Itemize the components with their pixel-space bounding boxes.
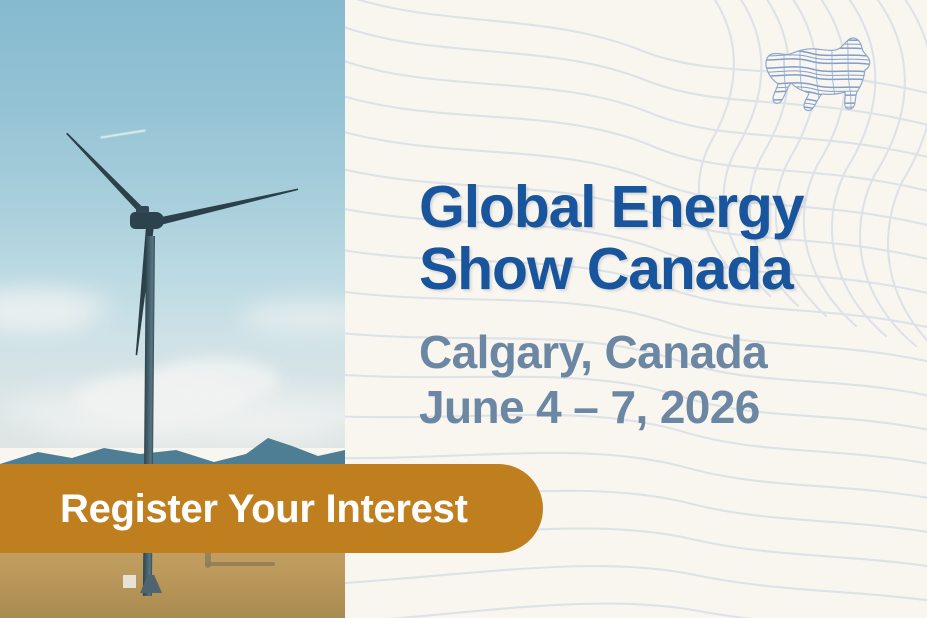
headline-line-2: Show Canada: [419, 238, 889, 300]
event-details: Calgary, Canada June 4 – 7, 2026: [419, 325, 889, 435]
event-location: Calgary, Canada: [419, 325, 889, 380]
headline-line-1: Global Energy: [419, 176, 889, 238]
page-title: Global Energy Show Canada: [419, 176, 889, 300]
dirt-road: [205, 562, 275, 566]
event-promo-banner: Global Energy Show Canada Calgary, Canad…: [0, 0, 927, 618]
bear-logo-icon: [752, 26, 876, 118]
register-your-interest-button[interactable]: Register Your Interest: [0, 464, 543, 553]
turbine-nacelle-top: [136, 206, 149, 213]
event-dates: June 4 – 7, 2026: [419, 380, 889, 435]
register-button-label: Register Your Interest: [60, 489, 468, 529]
ground-equipment: [123, 575, 136, 588]
turbine-nacelle: [130, 212, 164, 229]
